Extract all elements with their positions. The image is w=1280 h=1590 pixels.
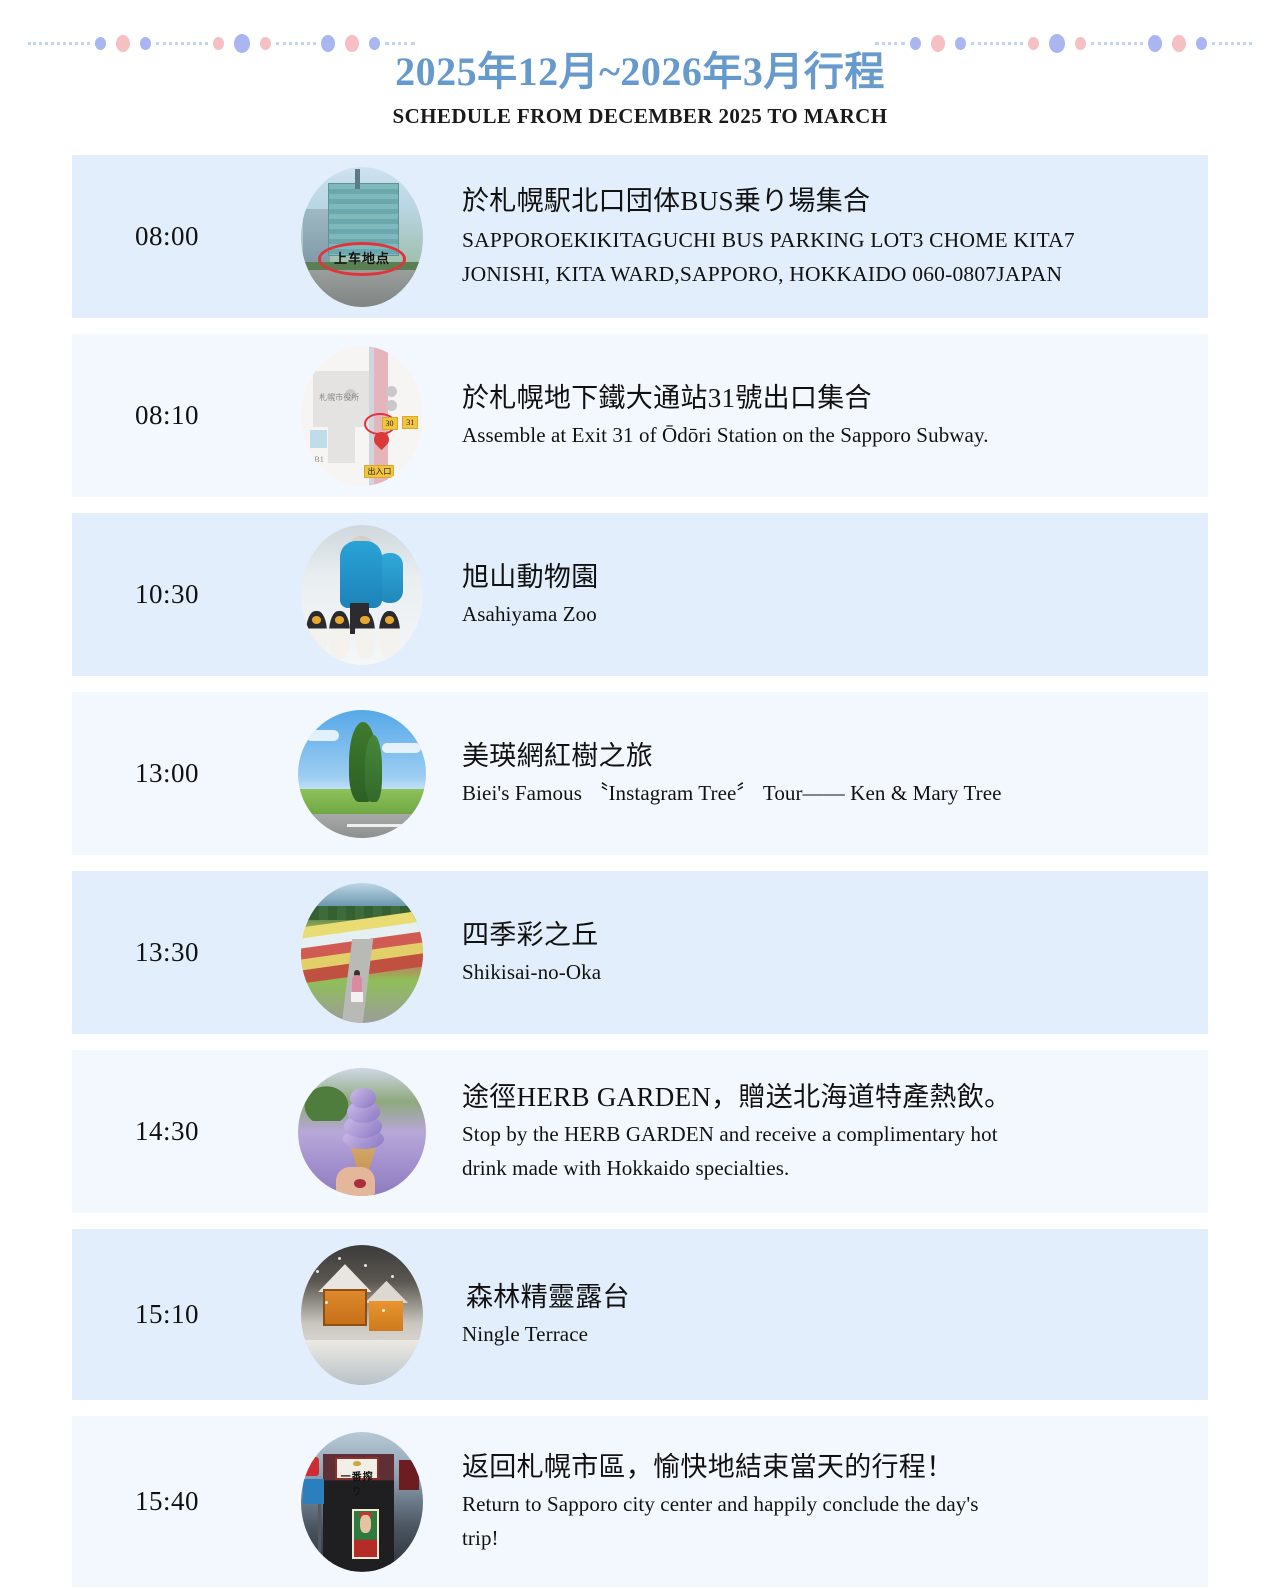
page-title: 2025年12月~2026年3月行程: [381, 46, 899, 98]
page-header: 2025年12月~2026年3月行程 SCHEDULE FROM DECEMBE…: [0, 0, 1280, 129]
schedule-row: 08:00 上车地点 於札幌駅北口団体BUS乗り場集合 SAPPOROEKIKI…: [72, 155, 1208, 318]
row-title-cn: 途徑HERB GARDEN，贈送北海道特產熱飲。: [462, 1079, 1168, 1116]
schedule-row: 08:10 札幌市役所B1 3031出入口 於札幌地下鐵大通站31號出口集合 A…: [72, 334, 1208, 497]
row-desc-en-1: Shikisai-no-Oka: [462, 958, 1168, 988]
ningle-terrace-cabins-photo: [301, 1245, 423, 1385]
row-time: 10:30: [72, 579, 262, 610]
row-desc-en-2: drink made with Hokkaido specialties.: [462, 1154, 1168, 1184]
row-desc-en-1: SAPPOROEKIKITAGUCHI BUS PARKING LOT3 CHO…: [462, 225, 1168, 256]
row-thumbnail-cell: [262, 710, 462, 838]
row-desc-en-1: Ningle Terrace: [462, 1320, 1168, 1350]
row-desc-en-1: Asahiyama Zoo: [462, 600, 1168, 630]
sapporo-station-boarding-point-photo: 上车地点: [301, 167, 423, 307]
schedule-row: 15:10 森林精靈露台 Ningle Terrace: [72, 1229, 1208, 1400]
row-desc-en-1: Biei's Famous 〝Instagram Tree〞 Tour—— Ke…: [462, 779, 1168, 809]
row-title-cn: 返回札幌市區，愉快地結束當天的行程！: [462, 1449, 1168, 1486]
row-text-cell: 旭山動物園 Asahiyama Zoo: [462, 559, 1208, 630]
row-title-cn: 旭山動物園: [462, 559, 1168, 596]
row-text-cell: 美瑛網紅樹之旅 Biei's Famous 〝Instagram Tree〞 T…: [462, 738, 1208, 809]
row-title-cn: 四季彩之丘: [462, 917, 1168, 954]
shikisai-no-oka-flower-field-photo: [301, 883, 423, 1023]
row-time: 15:40: [72, 1486, 262, 1517]
susukino-night-signs-photo: 一番搾り: [301, 1432, 423, 1572]
row-text-cell: 森林精靈露台 Ningle Terrace: [462, 1279, 1208, 1350]
schedule-list: 08:00 上车地点 於札幌駅北口団体BUS乗り場集合 SAPPOROEKIKI…: [72, 155, 1208, 1587]
row-time: 15:10: [72, 1299, 262, 1330]
row-thumbnail-cell: [262, 883, 462, 1023]
schedule-row: 10:30 旭山動物園 Asahiyama Zoo: [72, 513, 1208, 676]
row-text-cell: 於札幌駅北口団体BUS乗り場集合 SAPPOROEKIKITAGUCHI BUS…: [462, 183, 1208, 289]
row-time: 13:00: [72, 758, 262, 789]
row-thumbnail-cell: [262, 1068, 462, 1196]
row-time: 08:00: [72, 221, 262, 252]
decorative-beads-left: [28, 32, 415, 54]
row-thumbnail-cell: 一番搾り: [262, 1432, 462, 1572]
schedule-row: 15:40 一番搾り 返回札幌市區，愉快地結束當天的行程！ Return to …: [72, 1416, 1208, 1587]
row-title-cn: 於札幌駅北口団体BUS乗り場集合: [462, 183, 1168, 220]
schedule-row: 13:00 美瑛網紅樹之旅 Biei's Famous 〝Instagram T…: [72, 692, 1208, 855]
row-title-cn: 於札幌地下鐵大通站31號出口集合: [462, 380, 1168, 417]
odori-station-exit-map: 札幌市役所B1 3031出入口: [301, 346, 423, 486]
row-desc-en-2: JONISHI, KITA WARD,SAPPORO, HOKKAIDO 060…: [462, 259, 1168, 290]
row-thumbnail-cell: 上车地点: [262, 167, 462, 307]
row-text-cell: 返回札幌市區，愉快地結束當天的行程！ Return to Sapporo cit…: [462, 1449, 1208, 1554]
asahiyama-zoo-penguin-walk-photo: [301, 525, 423, 665]
row-text-cell: 於札幌地下鐵大通站31號出口集合 Assemble at Exit 31 of …: [462, 380, 1208, 451]
photo-caption: 上车地点: [301, 248, 423, 267]
row-desc-en-1: Return to Sapporo city center and happil…: [462, 1490, 1168, 1520]
row-desc-en-1: Stop by the HERB GARDEN and receive a co…: [462, 1120, 1168, 1150]
row-time: 14:30: [72, 1116, 262, 1147]
row-desc-en-2: trip!: [462, 1524, 1168, 1554]
row-thumbnail-cell: [262, 1245, 462, 1385]
row-thumbnail-cell: [262, 525, 462, 665]
row-title-cn: 美瑛網紅樹之旅: [462, 738, 1168, 775]
ken-and-mary-tree-photo: [298, 710, 426, 838]
row-time: 13:30: [72, 937, 262, 968]
row-desc-en-1: Assemble at Exit 31 of Ōdōri Station on …: [462, 421, 1168, 451]
decorative-beads-right: [875, 32, 1252, 54]
lavender-soft-serve-icecream-photo: [298, 1068, 426, 1196]
row-time: 08:10: [72, 400, 262, 431]
row-text-cell: 四季彩之丘 Shikisai-no-Oka: [462, 917, 1208, 988]
page-subtitle: SCHEDULE FROM DECEMBER 2025 TO MARCH: [0, 104, 1280, 129]
row-thumbnail-cell: 札幌市役所B1 3031出入口: [262, 346, 462, 486]
schedule-row: 13:30 四季彩之丘 Shikisai-no-Oka: [72, 871, 1208, 1034]
row-title-cn: 森林精靈露台: [462, 1279, 1168, 1316]
row-text-cell: 途徑HERB GARDEN，贈送北海道特產熱飲。 Stop by the HER…: [462, 1079, 1208, 1184]
schedule-row: 14:30 途徑HERB GARDEN，贈送北海道特產熱飲。 Stop by t…: [72, 1050, 1208, 1213]
